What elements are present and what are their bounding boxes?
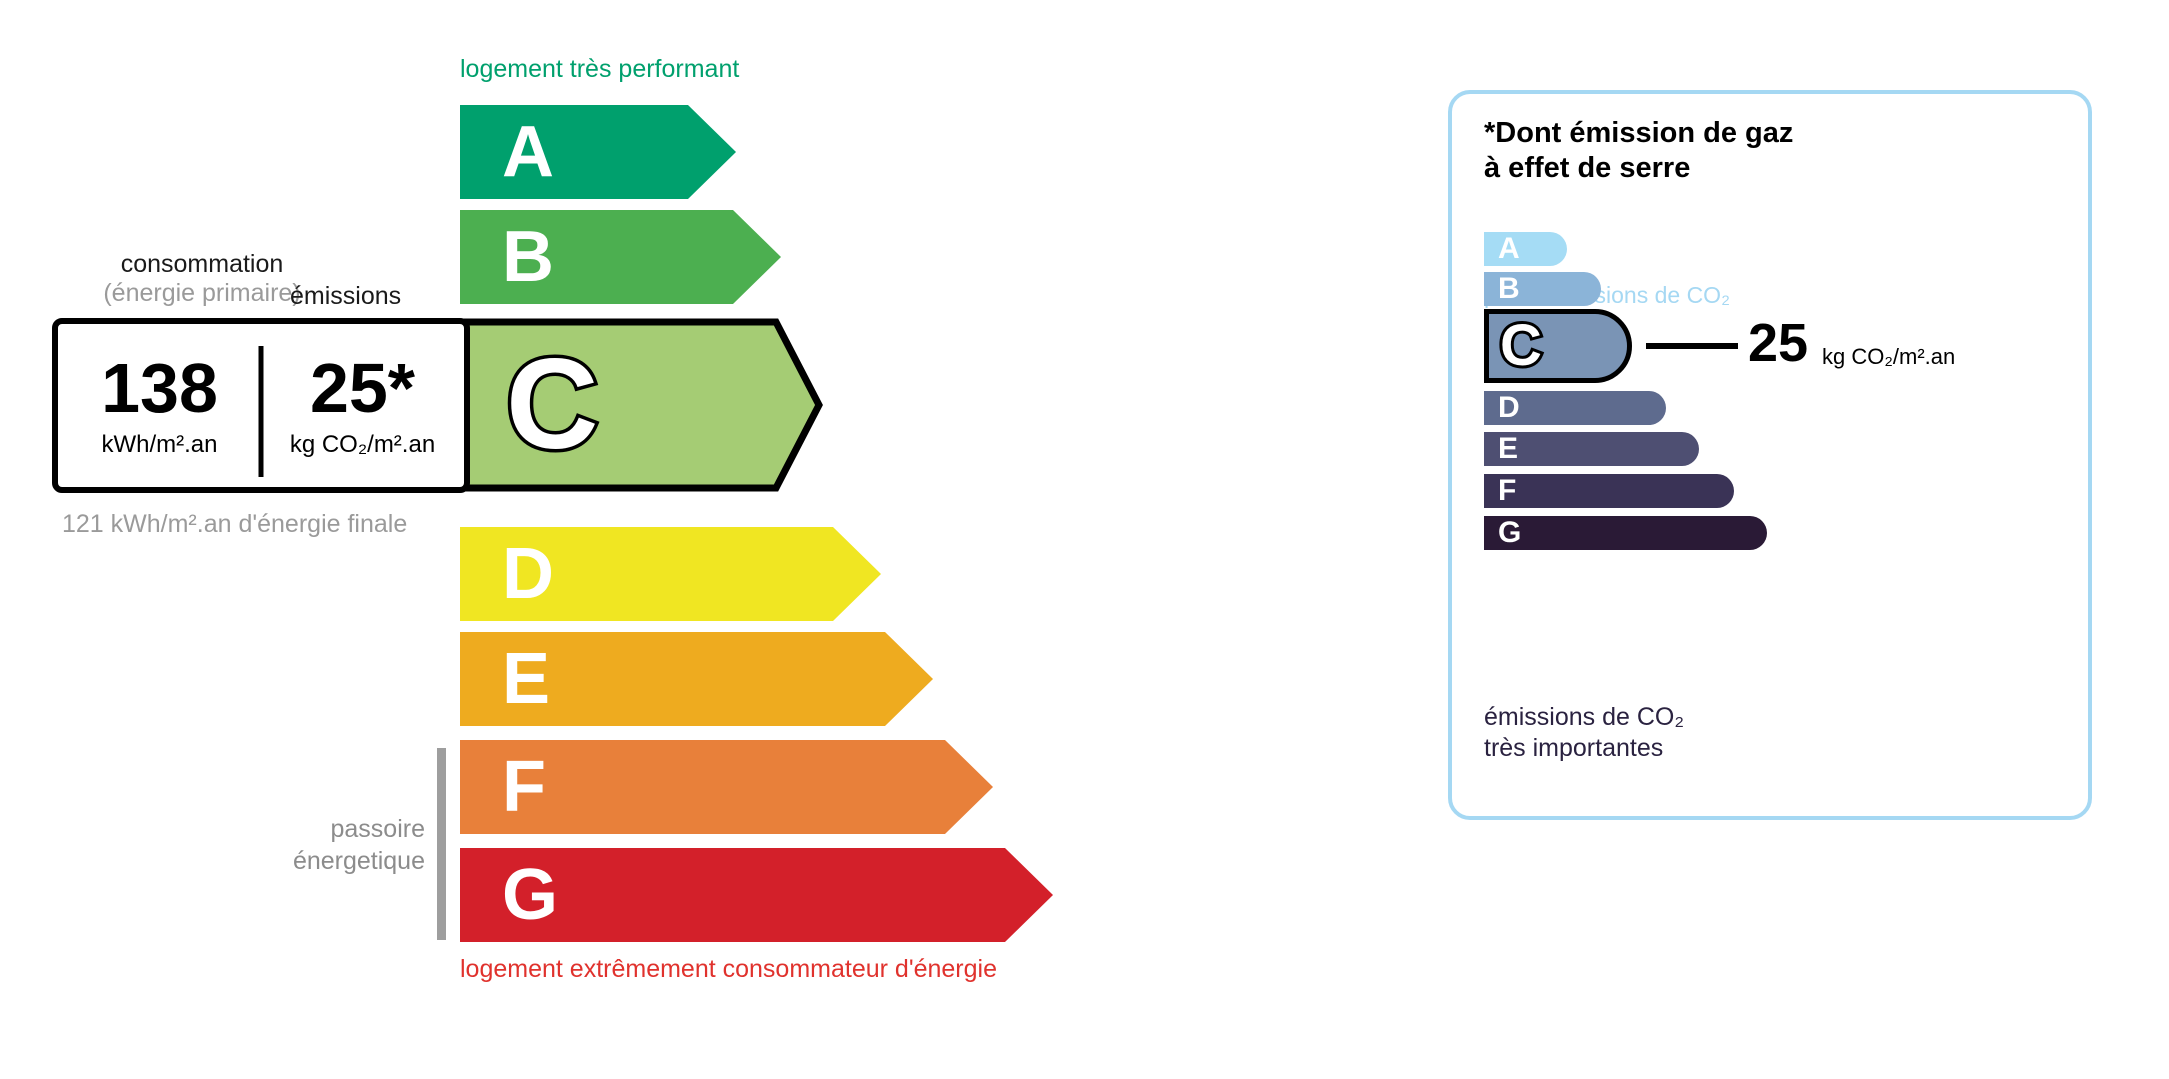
co2-bar-g-letter: G — [1498, 518, 1521, 548]
energy-bar-b-letter: B — [502, 221, 554, 293]
energy-bar-e-letter: E — [502, 643, 550, 715]
co2-bar-g: G — [1484, 516, 1767, 550]
energy-bar-g-letter: G — [502, 859, 558, 931]
energy-bar-g: G — [460, 848, 1053, 942]
co2-bar-d-letter: D — [1498, 393, 1520, 423]
co2-bar-f-fill — [1484, 474, 1734, 508]
caption-very-consuming: logement extrêmement consommateur d'éner… — [460, 955, 997, 984]
emissions-cell: 25* kg CO₂/m².an — [261, 324, 464, 487]
label-consumption-main: consommation — [121, 250, 284, 278]
consumption-value: 138 — [101, 353, 218, 423]
energy-bar-e: E — [460, 632, 933, 726]
energy-bar-f: F — [460, 740, 993, 834]
energy-bar-a: A — [460, 105, 736, 199]
co2-value-unit: kg CO₂/m².an — [1822, 344, 1955, 370]
energy-bar-f-letter: F — [502, 751, 546, 823]
emissions-value: 25* — [310, 353, 415, 423]
energy-bar-c-letter: C — [506, 341, 598, 469]
co2-panel-title: *Dont émission de gaz à effet de serre — [1484, 116, 1793, 187]
co2-bar-a-letter: A — [1498, 234, 1520, 264]
final-energy-label: 121 kWh/m².an d'énergie finale — [62, 508, 407, 540]
co2-bar-c-letter: C — [1500, 317, 1542, 375]
energy-bar-b: B — [460, 210, 781, 304]
co2-bar-c-selected: C — [1484, 309, 1632, 383]
co2-bar-b: B — [1484, 272, 1601, 306]
energy-performance-scale: logement très performant A B C D E F G c… — [0, 0, 1400, 1079]
co2-bar-f-letter: F — [1498, 476, 1516, 506]
co2-value: 25 — [1748, 316, 1808, 370]
energy-bar-d: D — [460, 527, 881, 621]
label-emissions: émissions — [290, 282, 401, 311]
co2-bar-b-letter: B — [1498, 274, 1520, 304]
passoire-indicator-bar — [437, 748, 446, 940]
co2-bar-e: E — [1484, 432, 1699, 466]
caption-very-efficient: logement très performant — [460, 55, 739, 84]
co2-bar-d: D — [1484, 391, 1666, 425]
passoire-label: passoire énergetique — [250, 813, 425, 877]
emissions-unit: kg CO₂/m².an — [290, 431, 435, 459]
value-box: 138 kWh/m².an 25* kg CO₂/m².an — [52, 318, 470, 493]
co2-bar-e-letter: E — [1498, 434, 1518, 464]
co2-bar-f: F — [1484, 474, 1734, 508]
energy-bar-a-letter: A — [502, 116, 554, 188]
co2-bar-a: A — [1484, 232, 1567, 266]
co2-bar-g-fill — [1484, 516, 1767, 550]
energy-bar-c-selected: C — [460, 318, 824, 492]
co2-caption-high: émissions de CO₂ très importantes — [1484, 702, 1684, 764]
co2-value-connector-line — [1646, 343, 1738, 349]
co2-bar-a-fill — [1484, 232, 1567, 266]
consumption-cell: 138 kWh/m².an — [58, 324, 261, 487]
energy-bar-d-letter: D — [502, 538, 554, 610]
co2-emissions-panel: *Dont émission de gaz à effet de serre p… — [1448, 90, 2092, 820]
consumption-unit: kWh/m².an — [101, 431, 217, 459]
